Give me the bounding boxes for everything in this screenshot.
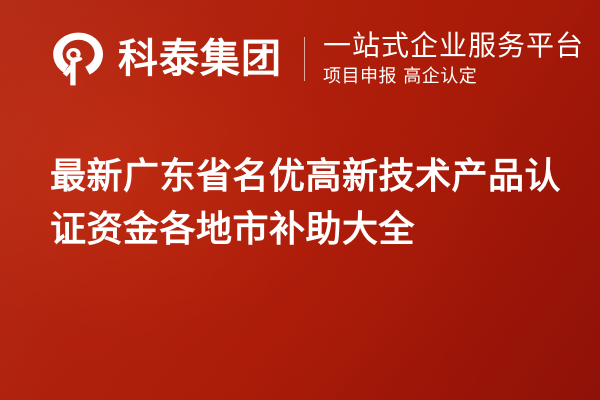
page-title: 最新广东省名优高新技术产品认 证资金各地市补助大全	[50, 150, 562, 256]
brand-divider	[304, 37, 305, 81]
brand-header: 科泰集团 一站式企业服务平台 项目申报 高企认定	[0, 0, 600, 118]
slogan-main: 一站式企业服务平台	[323, 31, 584, 61]
brand-name: 科泰集团	[118, 39, 282, 79]
page-title-line-2: 证资金各地市补助大全	[50, 203, 562, 256]
slogan-block: 一站式企业服务平台 项目申报 高企认定	[323, 31, 584, 86]
brand-lockup[interactable]: 科泰集团	[50, 31, 282, 87]
promo-banner: 科泰集团 一站式企业服务平台 项目申报 高企认定 最新广东省名优高新技术产品认 …	[0, 0, 600, 400]
koutai-circle-logo-icon	[50, 31, 106, 87]
page-title-line-1: 最新广东省名优高新技术产品认	[50, 150, 562, 203]
slogan-sub: 项目申报 高企认定	[323, 67, 584, 87]
